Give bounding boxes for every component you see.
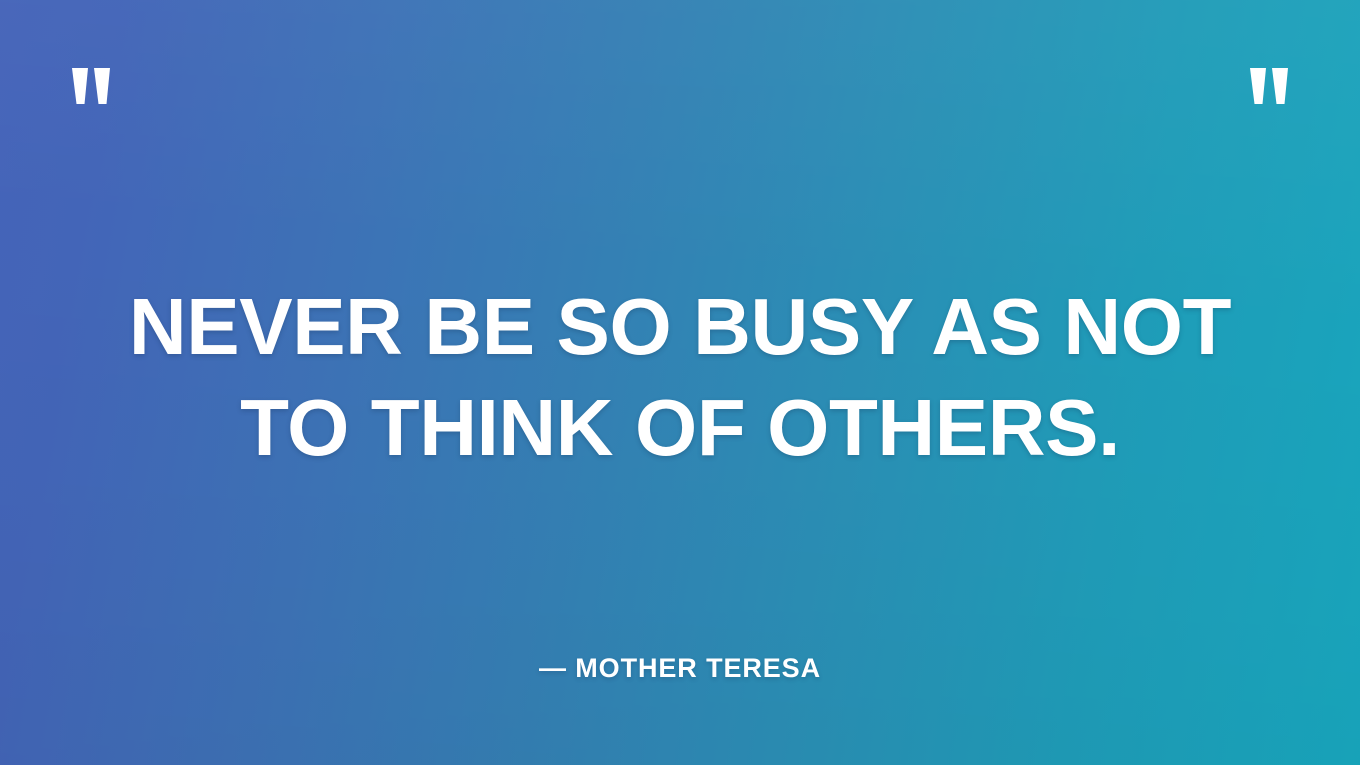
quote-mark-left-icon xyxy=(70,68,114,104)
quote-mark-right-icon xyxy=(1248,68,1292,104)
quote-line-1: NEVER BE SO BUSY AS NOT xyxy=(60,276,1300,377)
quote-card: NEVER BE SO BUSY AS NOT TO THINK OF OTHE… xyxy=(0,0,1360,765)
quote-line-2: TO THINK OF OTHERS. xyxy=(60,377,1300,478)
quote-text: NEVER BE SO BUSY AS NOT TO THINK OF OTHE… xyxy=(0,276,1360,478)
quote-attribution: — MOTHER TERESA xyxy=(0,653,1360,684)
